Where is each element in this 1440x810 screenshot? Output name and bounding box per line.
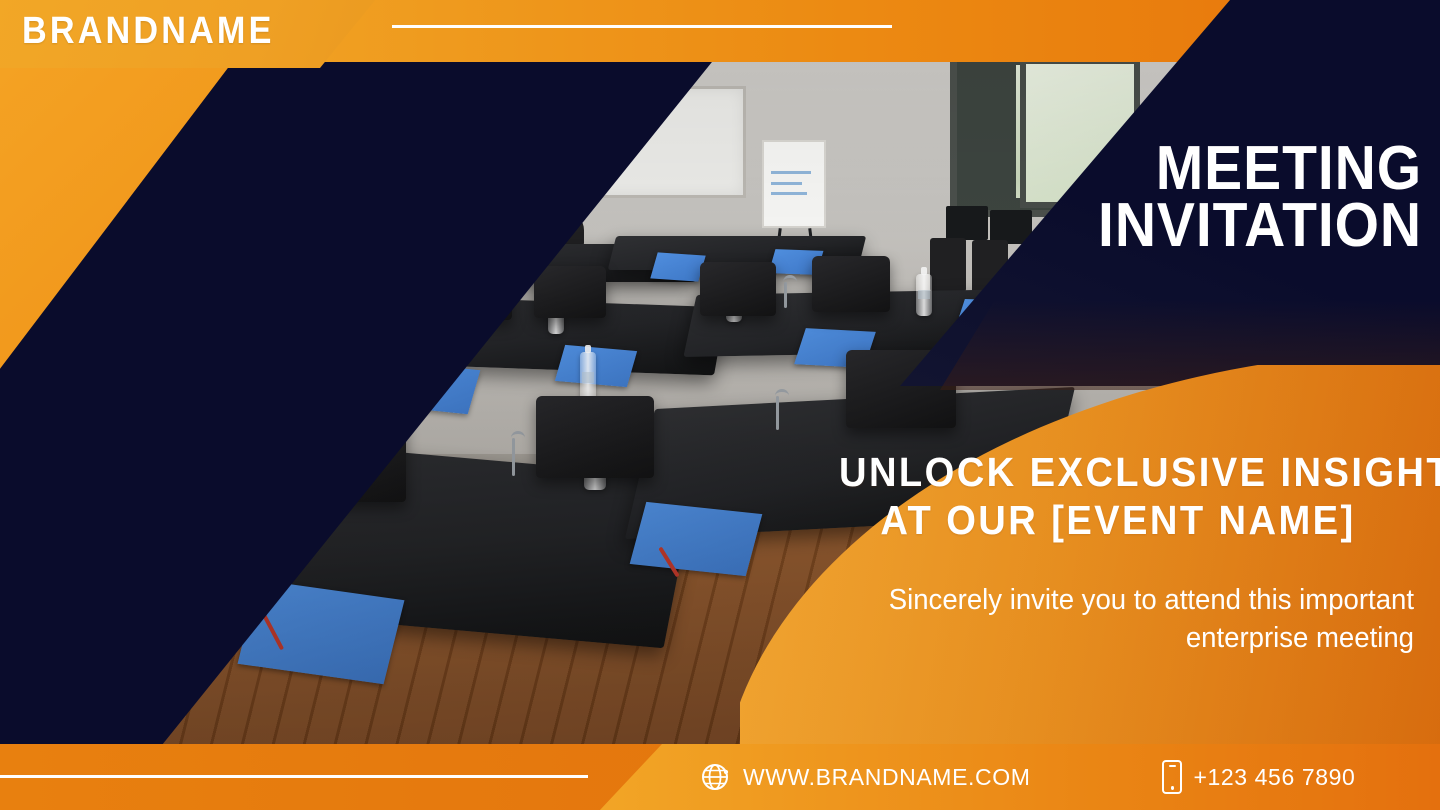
title-line-1: MEETING <box>944 140 1422 197</box>
meeting-invitation-poster: BRANDNAME MEETING INVITATION UNLOCK EXCL… <box>0 0 1440 810</box>
globe-icon <box>700 761 732 793</box>
website-label: WWW.BRANDNAME.COM <box>743 764 1030 791</box>
brand-banner: BRANDNAME <box>0 0 380 68</box>
brand-name: BRANDNAME <box>22 10 275 53</box>
subtitle: Sincerely invite you to attend this impo… <box>806 582 1414 657</box>
top-orange-band <box>300 0 1300 62</box>
page-title: MEETING INVITATION <box>902 140 1422 254</box>
contact-row: WWW.BRANDNAME.COM +123 456 7890 <box>690 744 1440 810</box>
phone-label: +123 456 7890 <box>1193 764 1355 791</box>
footer-divider-rule <box>0 775 588 778</box>
mobile-phone-icon <box>1162 760 1182 794</box>
headline-line-2: AT OUR [EVENT NAME] <box>839 496 1397 544</box>
title-line-2: INVITATION <box>944 197 1422 254</box>
subtitle-line-2: enterprise meeting <box>806 620 1414 658</box>
website-contact[interactable]: WWW.BRANDNAME.COM <box>700 761 1030 793</box>
top-divider-rule <box>392 25 892 28</box>
subtitle-line-1: Sincerely invite you to attend this impo… <box>806 582 1414 620</box>
phone-contact[interactable]: +123 456 7890 <box>1162 760 1355 794</box>
headline-line-1: UNLOCK EXCLUSIVE INSIGHTS <box>839 448 1397 496</box>
headline: UNLOCK EXCLUSIVE INSIGHTS AT OUR [EVENT … <box>818 448 1418 545</box>
